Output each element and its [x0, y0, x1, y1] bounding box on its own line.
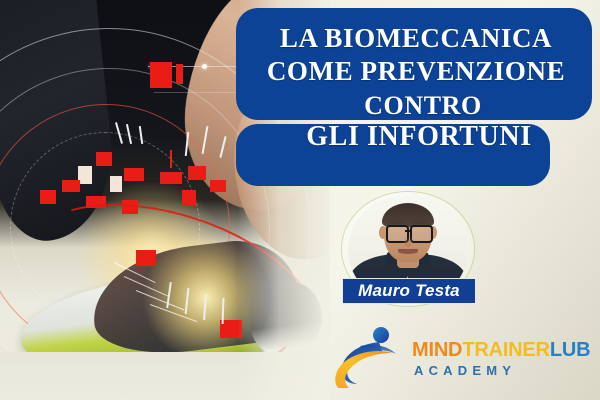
hud-tick-red [170, 150, 172, 168]
hud-marker-chip [160, 172, 182, 184]
presenter-name: Mauro Testa [358, 281, 460, 301]
title-line-2: COME PREVENZIONE [236, 53, 596, 86]
presenter-block: Mauro Testa [344, 194, 472, 306]
glasses-bridge-icon [405, 230, 410, 232]
portrait-brow-left [387, 221, 403, 224]
swoosh-figure-icon [330, 322, 408, 394]
hud-node-dot [202, 64, 207, 69]
title-line-3: CONTRO [236, 85, 596, 120]
logo-wordmark: MINDTRAINERLUB ACADEMY [412, 340, 590, 377]
hud-marker-chip [150, 62, 172, 88]
poster-canvas: LA BIOMECCANICA COME PREVENZIONE CONTRO … [0, 0, 600, 400]
glasses-icon [410, 225, 433, 243]
hud-marker-chip [124, 168, 144, 181]
logo-word-lub: LUB [550, 339, 591, 361]
logo-word-mind: MIND [412, 339, 462, 361]
hud-marker-chip [40, 190, 56, 204]
hud-marker-chip [182, 190, 196, 206]
presenter-name-badge: Mauro Testa [342, 278, 476, 304]
title-line-4: GLI INFORTUNI [236, 120, 596, 152]
portrait-nose [404, 236, 412, 247]
page-title: LA BIOMECCANICA COME PREVENZIONE CONTRO … [236, 8, 596, 151]
title-line-1: LA BIOMECCANICA [236, 8, 596, 53]
hud-marker-chip [62, 180, 80, 192]
hud-marker-chip [176, 64, 183, 84]
logo-word-trainer: TRAINER [462, 339, 550, 361]
portrait-brow-right [411, 221, 427, 224]
logo-primary-line: MINDTRAINERLUB [412, 340, 590, 360]
portrait-mouth [398, 249, 418, 254]
hud-marker-chip [78, 166, 92, 184]
brand-logo: MINDTRAINERLUB ACADEMY [330, 322, 582, 394]
hud-marker-chip [210, 180, 226, 192]
hud-marker-chip [110, 176, 122, 192]
hud-marker-chip [96, 152, 112, 166]
logo-subtitle: ACADEMY [414, 364, 590, 377]
hud-marker-chip [188, 166, 206, 180]
